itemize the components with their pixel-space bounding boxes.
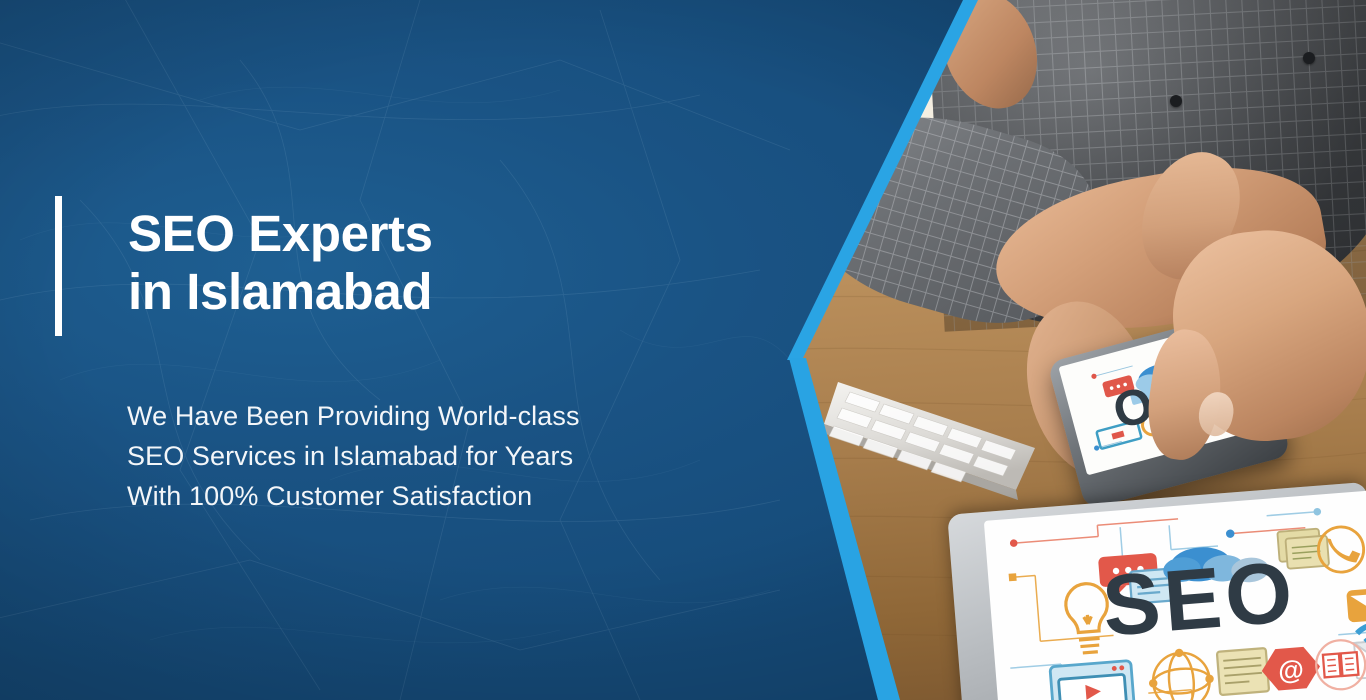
open-book-icon — [1314, 638, 1366, 691]
page-title: SEO Experts in Islamabad — [128, 205, 768, 321]
page-subtitle: We Have Been Providing World-class SEO S… — [127, 396, 787, 516]
subheading-line-1: We Have Been Providing World-class — [127, 396, 787, 436]
node-dot — [1226, 529, 1235, 538]
node-square — [1009, 573, 1017, 581]
headline-line-2: in Islamabad — [128, 263, 768, 321]
svg-text:@: @ — [1277, 654, 1305, 686]
text-document-icon — [1217, 648, 1269, 695]
vertical-accent-bar — [55, 196, 62, 336]
tablet-seo-text: SEO — [1100, 549, 1300, 650]
node-dot — [1010, 539, 1018, 547]
subheading-line-2: SEO Services in Islamabad for Years — [127, 436, 787, 476]
seo-hero-banner: SEO — [0, 0, 1366, 700]
hero-text-block: SEO Experts in Islamabad We Have Been Pr… — [0, 0, 800, 700]
mail-icon — [1346, 587, 1366, 622]
video-player-icon — [1050, 661, 1135, 700]
tablet-screen: @ SEO — [984, 488, 1366, 700]
node-dot — [1313, 508, 1321, 516]
photo-tablet: @ SEO — [947, 482, 1366, 700]
headline-line-1: SEO Experts — [128, 205, 768, 263]
photo-shirt-button — [1303, 52, 1315, 64]
photo-shirt-button — [1170, 95, 1182, 107]
subheading-line-3: With 100% Customer Satisfaction — [127, 476, 787, 516]
